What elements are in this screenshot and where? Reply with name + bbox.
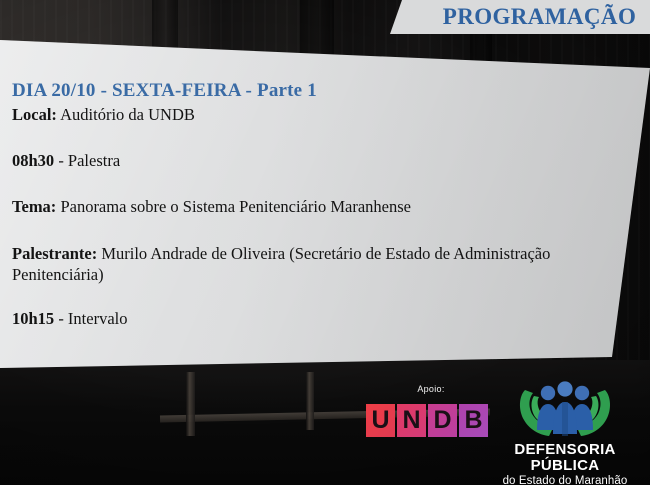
entry-label-local: Local: bbox=[12, 105, 57, 124]
schedule-entry-0830: 08h30 - Palestra bbox=[12, 151, 572, 171]
schedule-entry-palestrante: Palestrante: Murilo Andrade de Oliveira … bbox=[12, 243, 568, 285]
defensoria-subtitle: do Estado do Maranhão bbox=[486, 475, 644, 485]
entry-label-palestrante: Palestrante: bbox=[12, 244, 97, 263]
entry-label-0830: 08h30 bbox=[12, 151, 54, 170]
entry-value-1015: - Intervalo bbox=[54, 309, 127, 328]
defensoria-title: DEFENSORIA PÚBLICA bbox=[486, 442, 644, 474]
defensoria-logo: DEFENSORIA PÚBLICA do Estado do Maranhão bbox=[486, 380, 644, 485]
undb-letter-u: U bbox=[366, 404, 395, 437]
undb-logo: U N D B bbox=[366, 404, 488, 437]
schedule-entry-tema: Tema: Panorama sobre o Sistema Penitenci… bbox=[12, 197, 572, 217]
entry-value-local: Auditório da UNDB bbox=[57, 105, 195, 124]
support-label: Apoio: bbox=[366, 384, 496, 394]
entry-value-tema: Panorama sobre o Sistema Penitenciário M… bbox=[56, 197, 411, 216]
schedule-content: DIA 20/10 - SEXTA-FEIRA - Parte 1 Local:… bbox=[12, 80, 572, 329]
spacer-4 bbox=[12, 285, 572, 309]
undb-letter-d: D bbox=[428, 404, 457, 437]
spacer-3 bbox=[12, 217, 572, 243]
schedule-day-heading: DIA 20/10 - SEXTA-FEIRA - Parte 1 bbox=[12, 80, 572, 102]
schedule-entry-1015: 10h15 - Intervalo bbox=[12, 309, 572, 329]
programacao-title: PROGRAMAÇÃO bbox=[437, 1, 642, 32]
entry-label-tema: Tema: bbox=[12, 197, 56, 216]
undb-letter-n: N bbox=[397, 404, 426, 437]
entry-label-1015: 10h15 bbox=[12, 309, 54, 328]
entry-value-0830: - Palestra bbox=[54, 151, 120, 170]
schedule-entry-local: Local: Auditório da UNDB bbox=[12, 105, 572, 125]
program-poster: PROGRAMAÇÃO DIA 20/10 - SEXTA-FEIRA - Pa… bbox=[0, 0, 650, 485]
spacer-1 bbox=[12, 125, 572, 151]
spacer-2 bbox=[12, 171, 572, 197]
undb-letter-b: B bbox=[459, 404, 488, 437]
defensoria-emblem-icon bbox=[515, 380, 615, 440]
